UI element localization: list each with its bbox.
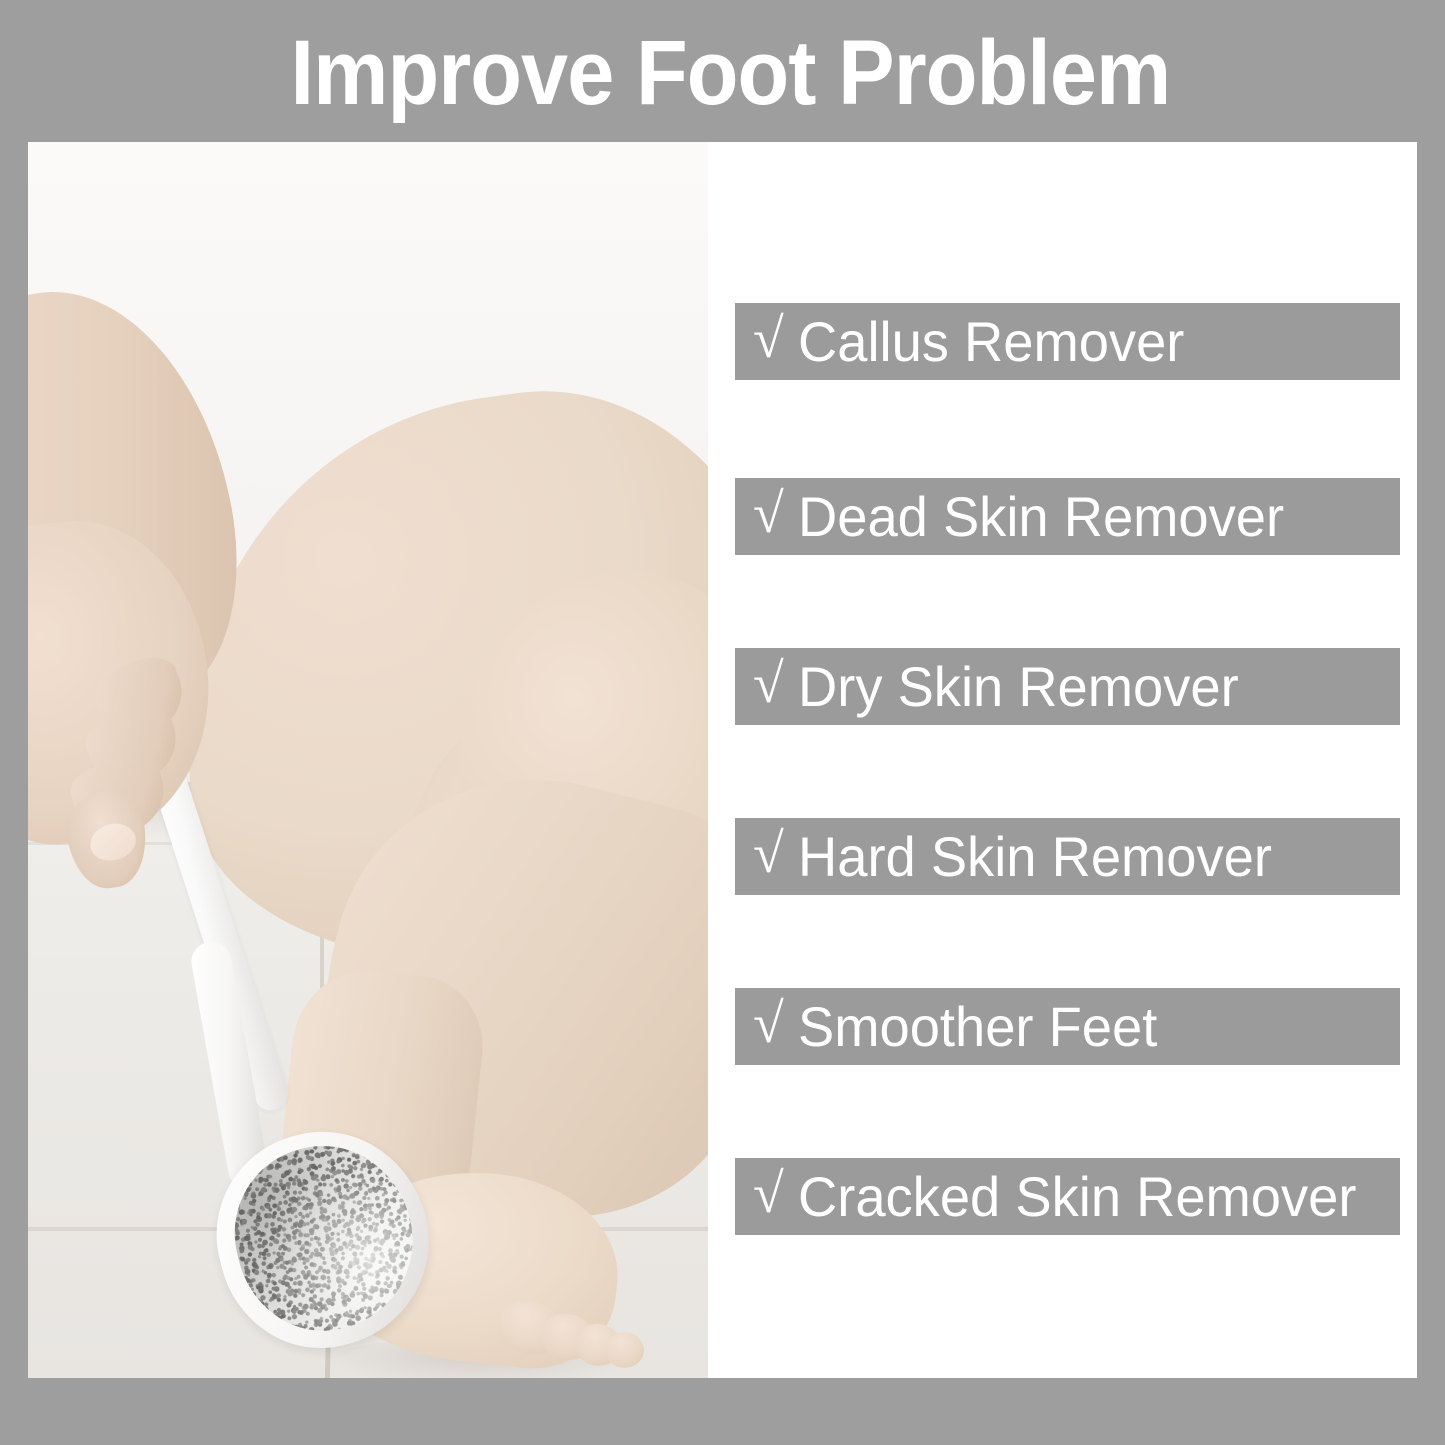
feature-item-dry-skin-remover: √ Dry Skin Remover [735, 648, 1400, 725]
check-icon: √ [753, 656, 784, 712]
check-icon: √ [753, 826, 784, 882]
feature-item-hard-skin-remover: √ Hard Skin Remover [735, 818, 1400, 895]
title-bar: Improve Foot Problem [0, 0, 1445, 142]
feature-item-callus-remover: √ Callus Remover [735, 303, 1400, 380]
feature-label: Cracked Skin Remover [798, 1169, 1356, 1225]
feature-label: Dry Skin Remover [798, 659, 1239, 715]
feature-label: Smoother Feet [798, 999, 1157, 1055]
feature-list-panel: √ Callus Remover √ Dead Skin Remover √ D… [708, 142, 1417, 1378]
page-title: Improve Foot Problem [274, 27, 1170, 119]
product-photo [28, 142, 708, 1378]
feature-item-dead-skin-remover: √ Dead Skin Remover [735, 478, 1400, 555]
product-infographic: Improve Foot Problem [0, 0, 1445, 1445]
feature-label: Dead Skin Remover [798, 489, 1284, 545]
feature-label: Hard Skin Remover [798, 829, 1272, 885]
check-icon: √ [753, 996, 784, 1052]
feature-list: √ Callus Remover √ Dead Skin Remover √ D… [735, 142, 1400, 1378]
feature-item-smoother-feet: √ Smoother Feet [735, 988, 1400, 1065]
check-icon: √ [753, 311, 784, 367]
check-icon: √ [753, 1166, 784, 1222]
check-icon: √ [753, 486, 784, 542]
feature-item-cracked-skin-remover: √ Cracked Skin Remover [735, 1158, 1400, 1235]
feature-label: Callus Remover [798, 314, 1184, 370]
